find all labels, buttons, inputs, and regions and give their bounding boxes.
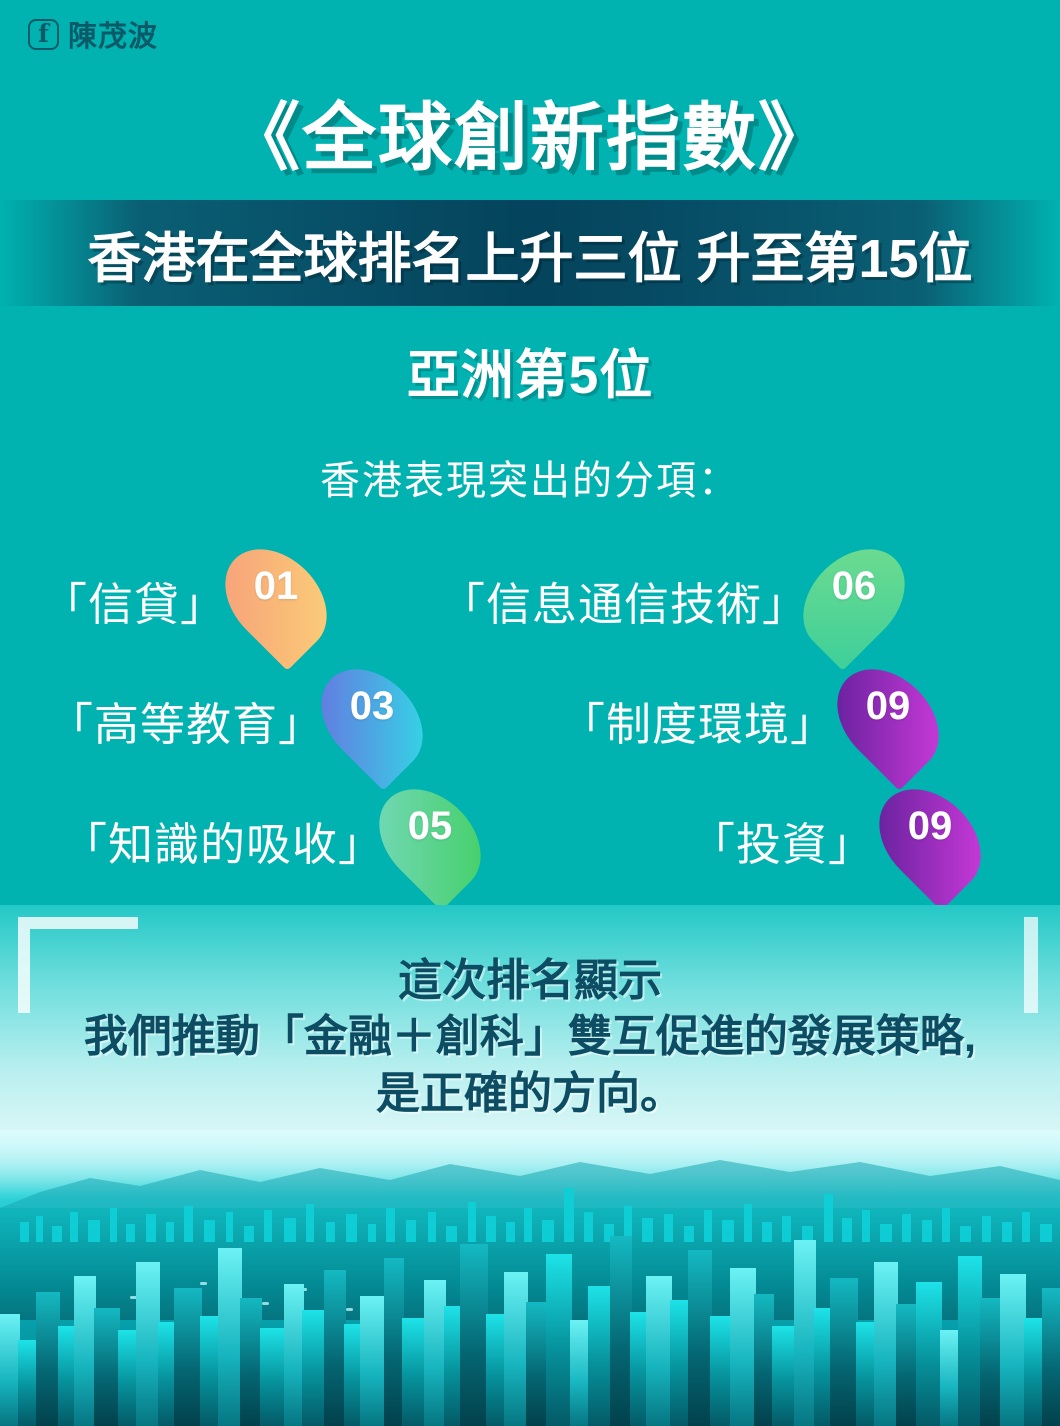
building	[74, 1276, 96, 1426]
building	[610, 1236, 632, 1426]
building	[118, 1330, 138, 1426]
building	[1000, 1274, 1026, 1426]
list-item: 「知識的吸收」 05	[62, 782, 472, 898]
rank-band: 香港在全球排名上升三位 升至第15位	[0, 200, 1060, 306]
rank-band-middle: 在全球排名上升三位 升至	[195, 229, 804, 289]
list-item: 「投資」 09	[690, 782, 972, 898]
building	[384, 1258, 404, 1426]
building	[958, 1256, 982, 1426]
building	[588, 1286, 612, 1426]
building	[794, 1240, 816, 1426]
section-subhead: 香港表現突出的分項：	[0, 448, 1060, 506]
building	[284, 1284, 304, 1426]
rank-pin-icon: 05	[388, 782, 472, 898]
pin-rank-number: 06	[832, 564, 877, 609]
item-label: 「高等教育」	[48, 688, 324, 753]
building	[94, 1308, 120, 1426]
building	[526, 1302, 548, 1426]
building	[240, 1298, 262, 1426]
pin-rank-number: 03	[350, 684, 395, 729]
pin-rank-number: 09	[908, 804, 953, 849]
building	[402, 1318, 426, 1426]
building	[772, 1326, 796, 1426]
building	[688, 1250, 712, 1426]
building	[424, 1280, 446, 1426]
quote-text: 這次排名顯示 我們推動「金融＋創科」雙互促進的發展策略, 是正確的方向。	[0, 953, 1060, 1122]
rank-pin-icon: 09	[888, 782, 972, 898]
building	[360, 1296, 386, 1426]
building	[136, 1262, 160, 1426]
building	[646, 1276, 672, 1426]
building	[218, 1248, 242, 1426]
building	[302, 1310, 326, 1426]
building	[0, 1314, 20, 1426]
pin-rank-number: 05	[408, 804, 453, 849]
building	[174, 1288, 202, 1426]
rank-band-prefix: 香港	[87, 229, 195, 289]
building	[856, 1322, 876, 1426]
building	[940, 1330, 960, 1426]
author-name: 陳茂波	[68, 13, 158, 55]
skyline-image	[0, 1130, 1060, 1426]
building	[710, 1316, 732, 1426]
building	[36, 1292, 60, 1426]
list-item: 「高等教育」 03	[48, 662, 414, 778]
quote-line-3: 是正確的方向。	[0, 1066, 1060, 1122]
item-label: 「信息通信技術」	[440, 568, 808, 633]
rank-band-suffix: 第15位	[804, 229, 972, 289]
building	[916, 1282, 942, 1426]
building	[18, 1340, 38, 1426]
rank-band-text: 香港在全球排名上升三位 升至第15位	[87, 214, 972, 293]
building	[754, 1294, 774, 1426]
item-label: 「制度環境」	[560, 688, 836, 753]
rank-pin-icon: 01	[234, 542, 318, 658]
list-item: 「信貸」 01	[42, 542, 318, 658]
building	[504, 1272, 528, 1426]
infographic-poster: f 陳茂波 《全球創新指數》 香港在全球排名上升三位 升至第15位 亞洲第5位 …	[0, 0, 1060, 1426]
page-title: 《全球創新指數》	[0, 78, 1060, 185]
building	[980, 1298, 1002, 1426]
building	[486, 1314, 506, 1426]
building	[570, 1320, 590, 1426]
building	[200, 1316, 220, 1426]
list-item: 「信息通信技術」 06	[440, 542, 896, 658]
pin-rank-number: 09	[866, 684, 911, 729]
pin-rank-number: 01	[254, 564, 299, 609]
item-label: 「信貸」	[42, 568, 226, 633]
building	[546, 1254, 572, 1426]
highlight-items: 「信貸」 01 「信息通信技術」 06 「高等教育」 03 「制度環境」	[0, 530, 1060, 910]
building	[670, 1300, 690, 1426]
building	[730, 1268, 756, 1426]
building	[260, 1328, 286, 1426]
building	[896, 1304, 918, 1426]
rank-pin-icon: 06	[812, 542, 896, 658]
quote-line-1: 這次排名顯示	[0, 953, 1060, 1009]
list-item: 「制度環境」 09	[560, 662, 930, 778]
rank-pin-icon: 09	[846, 662, 930, 778]
facebook-icon: f	[28, 19, 59, 50]
rank-pin-icon: 03	[330, 662, 414, 778]
facebook-attribution: f 陳茂波	[28, 13, 158, 55]
asia-rank: 亞洲第5位	[0, 333, 1060, 409]
building	[1042, 1288, 1060, 1426]
building	[1024, 1318, 1044, 1426]
building	[874, 1262, 898, 1426]
near-skyline	[0, 1196, 1060, 1426]
building	[460, 1244, 488, 1426]
item-label: 「投資」	[690, 808, 874, 873]
item-label: 「知識的吸收」	[62, 808, 384, 873]
building	[324, 1270, 346, 1426]
building	[830, 1278, 858, 1426]
quote-line-2: 我們推動「金融＋創科」雙互促進的發展策略,	[0, 1009, 1060, 1065]
